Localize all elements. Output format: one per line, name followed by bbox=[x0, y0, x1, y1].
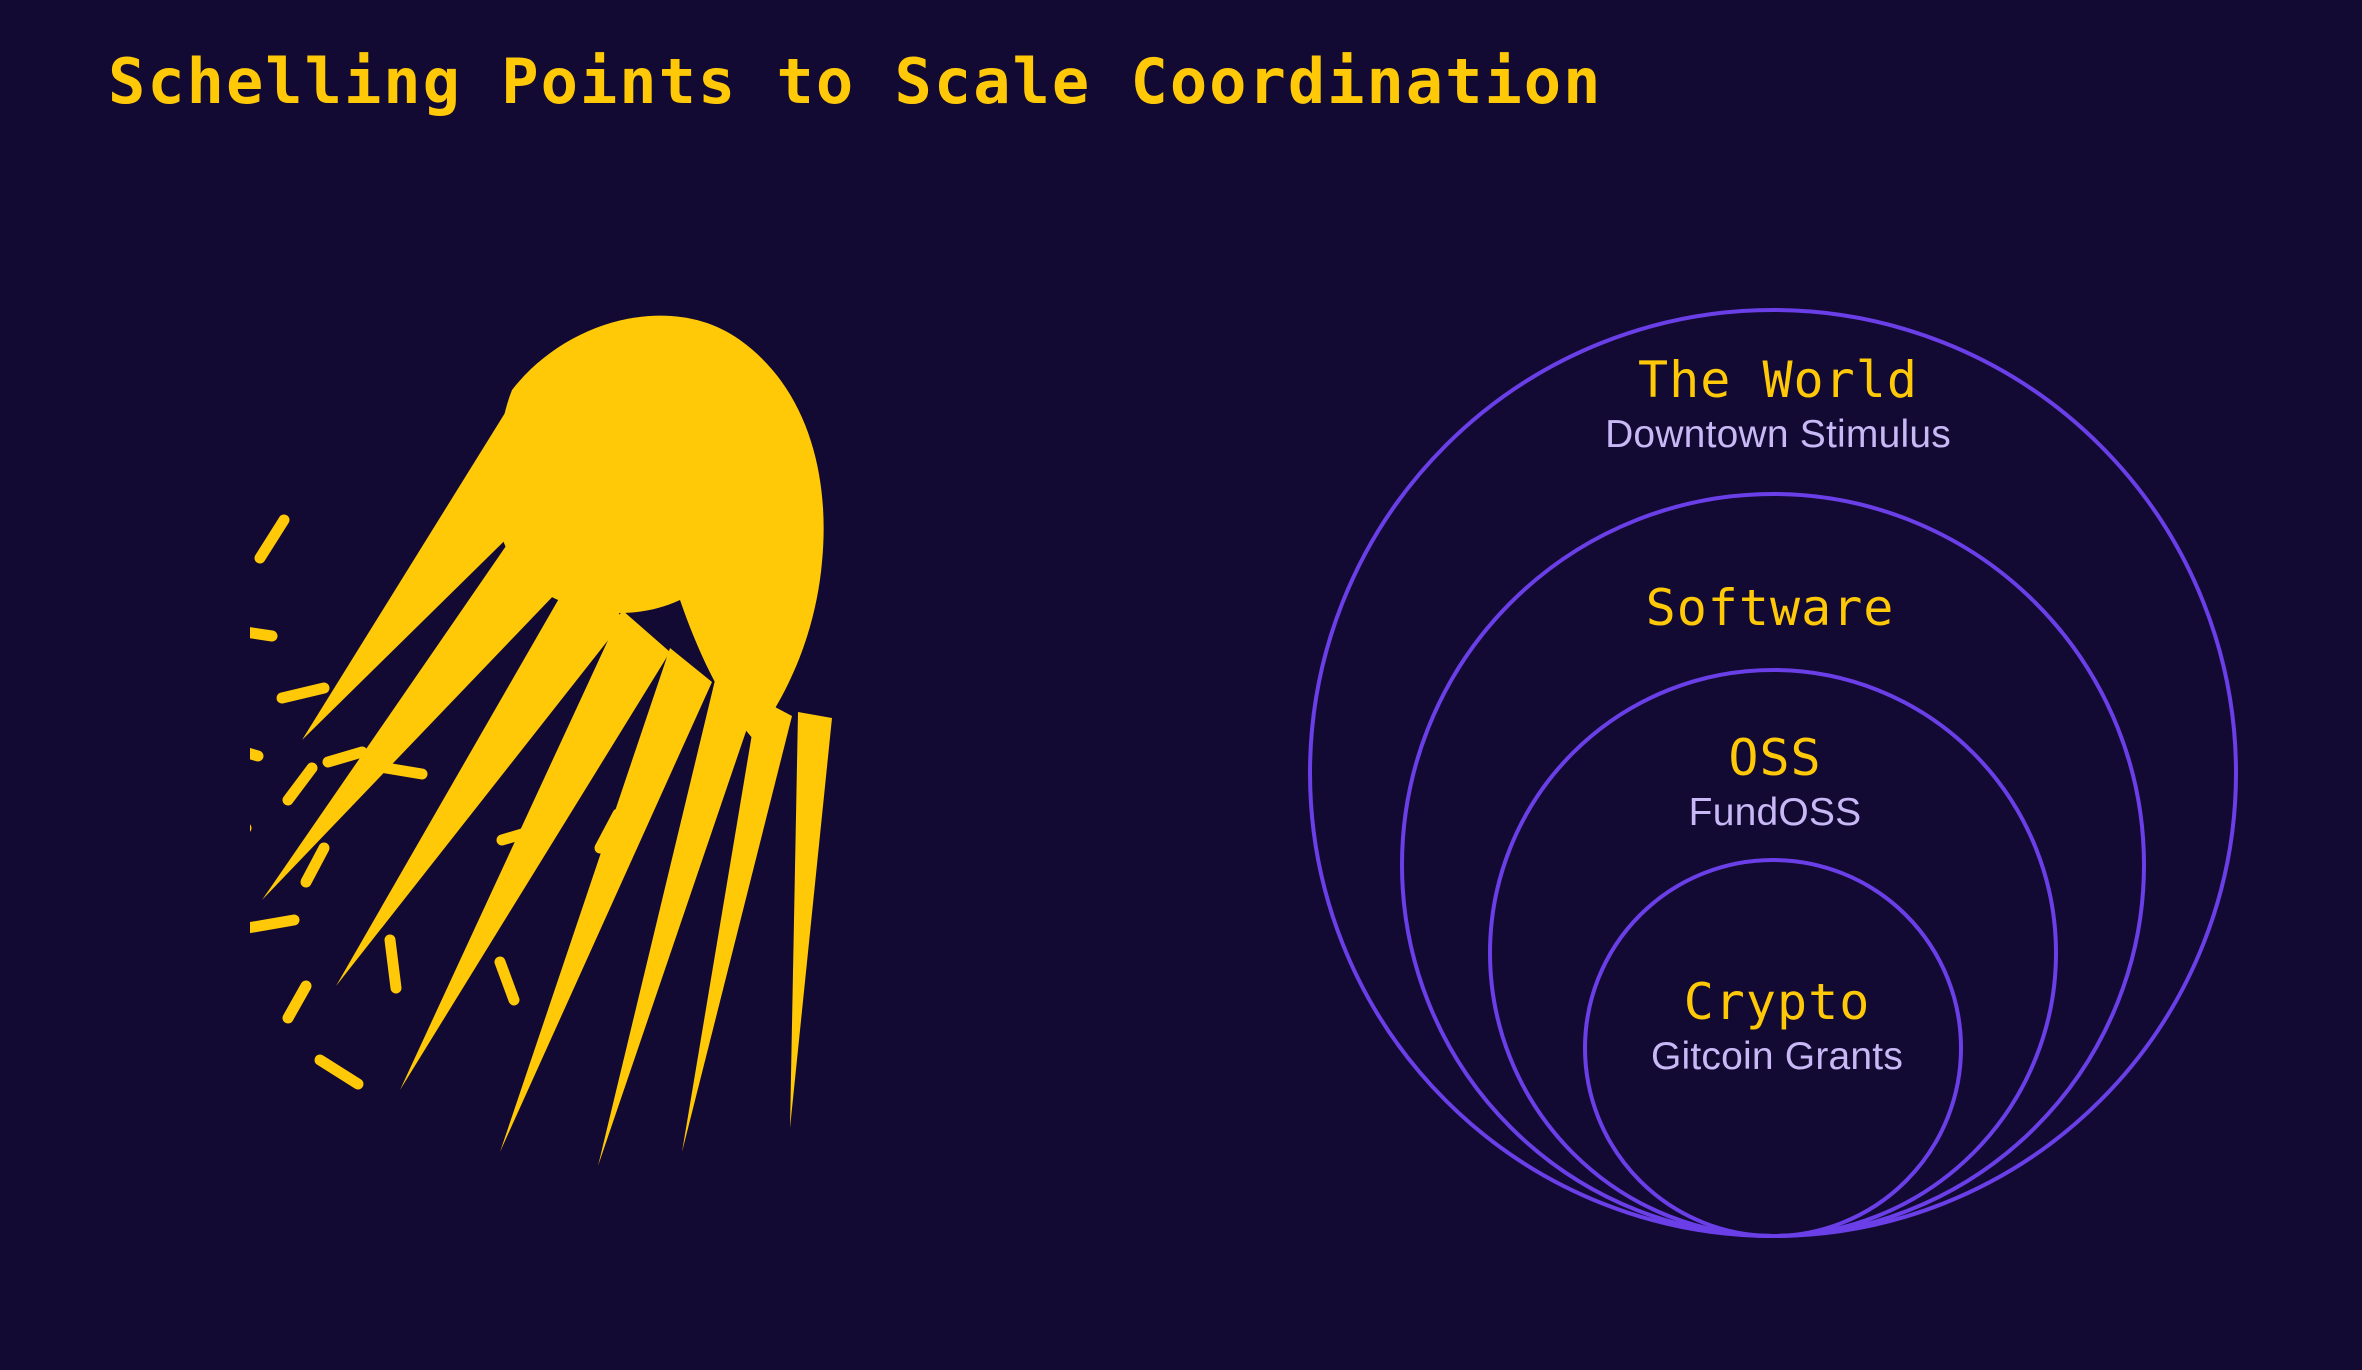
ring-title-crypto: Crypto bbox=[1651, 974, 1903, 1030]
comet-body bbox=[262, 316, 832, 1166]
page-title: Schelling Points to Scale Coordination bbox=[108, 48, 1602, 116]
ring-label-oss: OSS FundOSS bbox=[1689, 730, 1862, 836]
ring-label-crypto: Crypto Gitcoin Grants bbox=[1651, 974, 1903, 1080]
ring-label-world: The World Downtown Stimulus bbox=[1605, 352, 1951, 458]
ring-subtitle-world: Downtown Stimulus bbox=[1605, 412, 1951, 458]
comet-sunburst-icon bbox=[250, 300, 1010, 1170]
ring-label-software: Software bbox=[1646, 580, 1895, 636]
ring-title-world: The World bbox=[1605, 352, 1951, 408]
ring-title-oss: OSS bbox=[1689, 730, 1862, 786]
slide-canvas: Schelling Points to Scale Coordination bbox=[0, 0, 2362, 1370]
ring-subtitle-crypto: Gitcoin Grants bbox=[1651, 1034, 1903, 1080]
ring-title-software: Software bbox=[1646, 580, 1895, 636]
ring-subtitle-oss: FundOSS bbox=[1689, 790, 1862, 836]
